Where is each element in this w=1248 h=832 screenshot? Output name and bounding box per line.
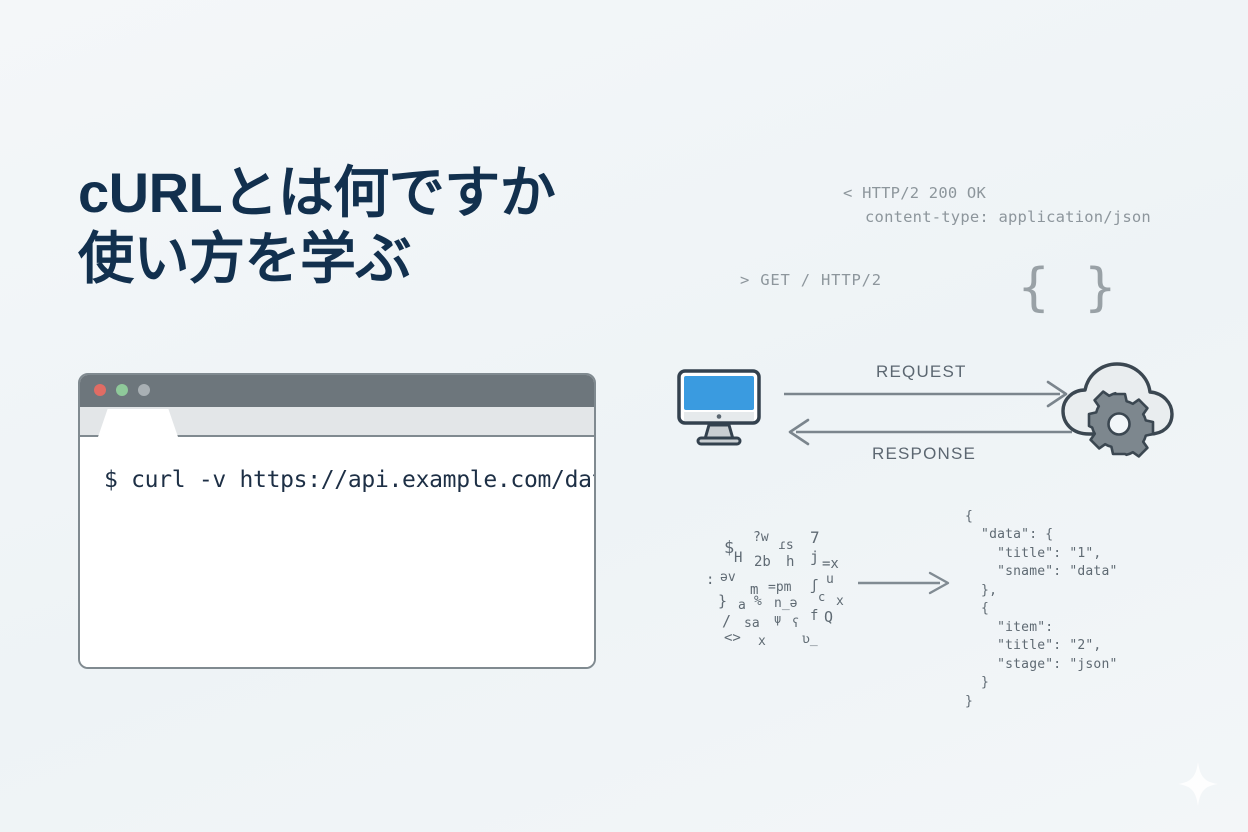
json-output-block: { "data": { "title": "1", "sname": "data…	[965, 508, 1118, 711]
terminal-window[interactable]: $ curl -v https://api.example.com/data	[78, 373, 596, 669]
raw-glyph: u	[826, 572, 834, 587]
raw-glyph: =pm	[768, 580, 791, 595]
request-response-diagram: REQUEST RESPONSE	[676, 358, 1186, 468]
raw-data-glyph-cloud: $?w7Hɾs2bhj=x:ǝvm=pmʃu}a%n_ǝcx/saψʕfQ<>x…	[706, 528, 836, 648]
raw-glyph: 7	[810, 528, 820, 547]
raw-glyph: }	[718, 592, 727, 610]
http-header-line: content-type: application/json	[843, 206, 1151, 230]
slide-canvas: cURLとは何ですか 使い方を学ぶ $ curl -v https://api.…	[0, 0, 1248, 832]
raw-glyph: ?w	[753, 530, 769, 545]
title-line-1: cURLとは何ですか	[78, 160, 778, 226]
page-title: cURLとは何ですか 使い方を学ぶ	[78, 160, 778, 292]
desktop-monitor-icon	[676, 368, 762, 450]
sparkle-icon	[1176, 760, 1220, 808]
raw-glyph: ʋ_	[802, 632, 818, 647]
raw-glyph: <>	[724, 630, 741, 646]
title-line-2: 使い方を学ぶ	[78, 226, 778, 292]
http-status-line: < HTTP/2 200 OK	[843, 184, 986, 202]
terminal-titlebar	[80, 375, 594, 407]
raw-glyph: ʕ	[792, 616, 799, 630]
raw-glyph: ǝv	[720, 570, 736, 585]
response-label: RESPONSE	[872, 444, 976, 464]
terminal-tab[interactable]	[98, 409, 178, 437]
raw-glyph: f	[810, 608, 818, 624]
raw-glyph: 2b	[754, 554, 771, 570]
raw-glyph: n_ǝ	[774, 596, 797, 611]
right-arrow-icon	[856, 570, 952, 596]
raw-glyph: ψ	[774, 612, 781, 626]
raw-glyph: %	[754, 594, 762, 609]
http-response-log: < HTTP/2 200 OK content-type: applicatio…	[843, 182, 1151, 229]
terminal-body[interactable]: $ curl -v https://api.example.com/data	[80, 437, 594, 669]
raw-glyph: /	[722, 612, 731, 630]
raw-glyph: sa	[744, 616, 760, 631]
raw-glyph: x	[758, 634, 766, 649]
cloud-gear-icon	[1058, 358, 1180, 462]
raw-glyph: h	[786, 554, 794, 570]
raw-glyph: Q	[824, 608, 833, 626]
raw-glyph: a	[738, 598, 746, 613]
request-label: REQUEST	[876, 362, 967, 382]
http-request-line: > GET / HTTP/2	[740, 271, 882, 289]
raw-glyph: ɾs	[778, 538, 794, 553]
raw-glyph: =x	[822, 556, 839, 572]
close-dot-icon[interactable]	[94, 384, 106, 396]
raw-glyph: x	[836, 594, 844, 609]
raw-glyph: :	[706, 572, 714, 588]
raw-glyph: $	[724, 538, 734, 558]
json-braces-icon: { }	[1018, 258, 1118, 318]
raw-glyph: j	[810, 548, 819, 566]
terminal-tabstrip	[80, 407, 594, 437]
raw-glyph: H	[734, 550, 742, 566]
minimize-dot-icon[interactable]	[116, 384, 128, 396]
terminal-command: $ curl -v https://api.example.com/data	[104, 467, 596, 493]
raw-glyph: c	[818, 590, 825, 604]
maximize-dot-icon[interactable]	[138, 384, 150, 396]
